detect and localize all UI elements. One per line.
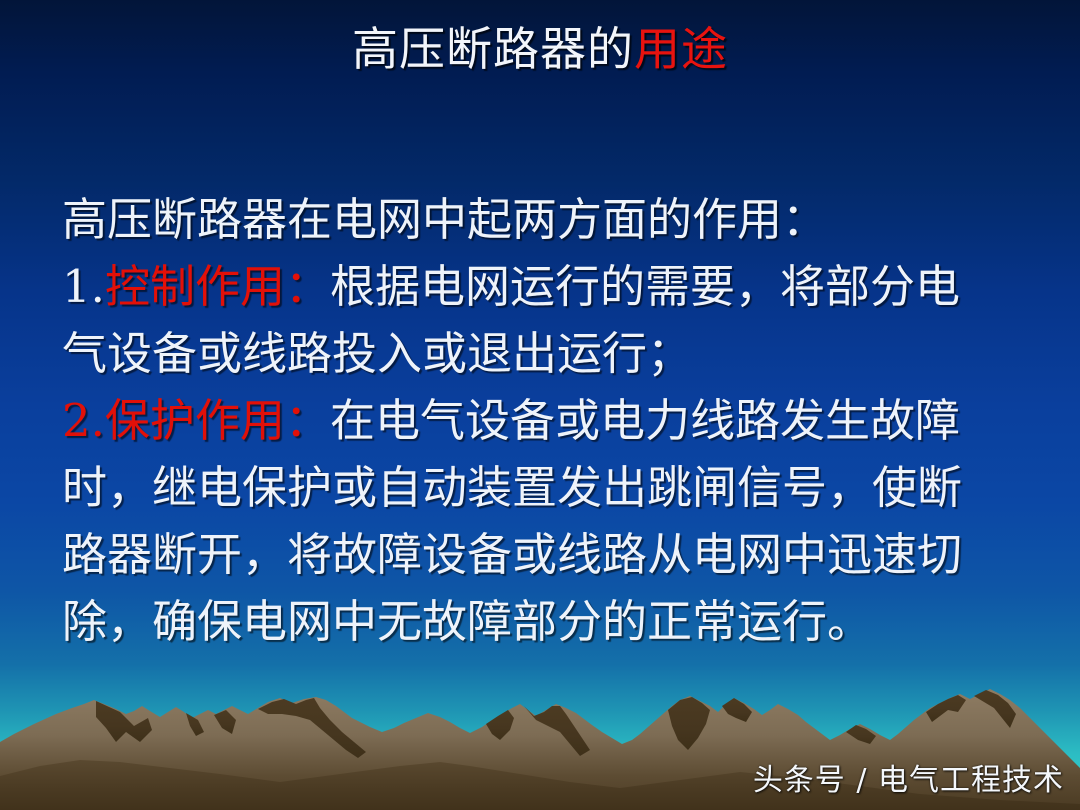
slide-title: 高压断路器的用途 [0, 22, 1080, 76]
watermark-label: 头条号 / 电气工程技术 [753, 764, 1064, 798]
body-line-4-segment-1: 2.保护作用 [62, 394, 285, 447]
body-line-5: 时，继电保护或自动装置发出跳闸信号，使断 [62, 454, 1052, 521]
body-line-2-segment-1: 1. [62, 260, 105, 313]
body-line-4-segment-2: ： [285, 394, 330, 447]
body-line-7: 除，确保电网中无故障部分的正常运行。 [62, 588, 1052, 655]
slide-body-text: 高压断路器在电网中起两方面的作用： 1.控制作用：根据电网运行的需要，将部分电 … [62, 186, 1052, 655]
body-line-1-segment-1: 高压断路器在电网中起两方面的作用： [62, 193, 827, 246]
body-line-3-segment-1: 气设备或线路投入或退出运行； [62, 327, 692, 380]
body-line-4: 2.保护作用：在电气设备或电力线路发生故障 [62, 387, 1052, 454]
body-line-6-segment-1: 路器断开，将故障设备或线路从电网中迅速切 [62, 528, 962, 581]
body-line-6: 路器断开，将故障设备或线路从电网中迅速切 [62, 521, 1052, 588]
body-line-2-segment-3: ： [285, 260, 330, 313]
body-line-2-segment-2: 控制作用 [105, 260, 285, 313]
body-line-2: 1.控制作用：根据电网运行的需要，将部分电 [62, 253, 1052, 320]
body-line-5-segment-1: 时，继电保护或自动装置发出跳闸信号，使断 [62, 461, 962, 514]
body-line-4-segment-3: 在电气设备或电力线路发生故障 [330, 394, 960, 447]
body-line-2-segment-4: 根据电网运行的需要，将部分电 [330, 260, 960, 313]
slide-canvas: 高压断路器的用途 高压断路器在电网中起两方面的作用： 1.控制作用：根据电网运行… [0, 0, 1080, 810]
title-plain-text: 高压断路器的 [352, 22, 634, 76]
body-line-1: 高压断路器在电网中起两方面的作用： [62, 186, 1052, 253]
title-highlight-text: 用途 [634, 22, 728, 76]
body-line-3: 气设备或线路投入或退出运行； [62, 320, 1052, 387]
body-line-7-segment-1: 除，确保电网中无故障部分的正常运行。 [62, 595, 872, 648]
